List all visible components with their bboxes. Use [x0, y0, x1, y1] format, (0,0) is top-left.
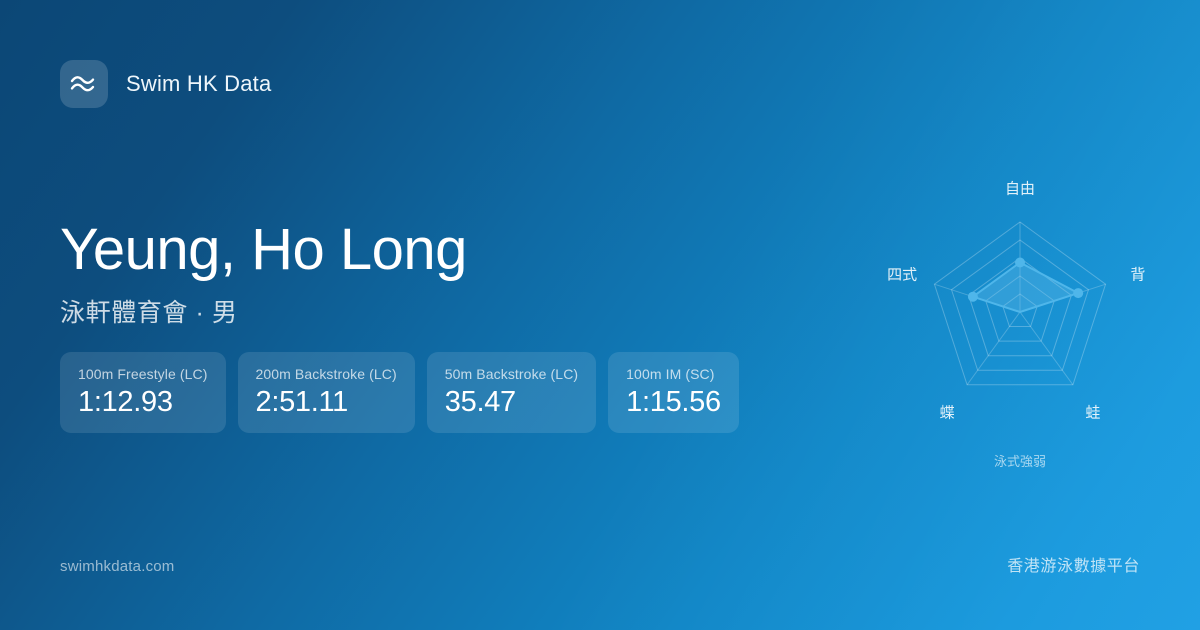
radar-point [1073, 288, 1083, 298]
stat-card[interactable]: 100m Freestyle (LC) 1:12.93 [60, 352, 226, 433]
brand-lockup: Swim HK Data [60, 60, 271, 108]
stroke-strength-radar-chart: 自由 背 蛙 蝶 四式 泳式強弱 [860, 160, 1180, 480]
radar-svg [860, 160, 1180, 480]
wave-icon [60, 60, 108, 108]
poster-canvas: Swim HK Data Yeung, Ho Long 泳軒體育會 · 男 10… [0, 0, 1200, 630]
stat-card[interactable]: 200m Backstroke (LC) 2:51.11 [238, 352, 415, 433]
stat-card-label: 100m Freestyle (LC) [78, 366, 208, 382]
radar-data-area [973, 263, 1078, 313]
radar-axis-label-back: 背 [1130, 263, 1145, 284]
radar-point [1015, 258, 1025, 268]
site-url: swimhkdata.com [60, 558, 175, 575]
radar-point [968, 292, 978, 302]
radar-axis-label-fly: 蝶 [940, 402, 955, 423]
stat-card-value: 2:51.11 [256, 387, 397, 417]
radar-chart-caption: 泳式強弱 [994, 451, 1046, 470]
hero-block: Yeung, Ho Long 泳軒體育會 · 男 [60, 218, 467, 329]
radar-axis-label-im: 四式 [887, 263, 917, 284]
radar-axis-label-breast: 蛙 [1085, 402, 1100, 423]
site-tagline: 香港游泳數據平台 [1007, 552, 1140, 576]
stat-card[interactable]: 50m Backstroke (LC) 35.47 [427, 352, 596, 433]
radar-axis-label-free: 自由 [1005, 178, 1035, 199]
stat-card-label: 100m IM (SC) [626, 366, 721, 382]
page-title: Yeung, Ho Long [60, 218, 467, 283]
stat-card-label: 50m Backstroke (LC) [445, 366, 578, 382]
brand-name: Swim HK Data [126, 71, 271, 97]
stat-card[interactable]: 100m IM (SC) 1:15.56 [608, 352, 739, 433]
stat-card-row: 100m Freestyle (LC) 1:12.93 200m Backstr… [60, 352, 739, 433]
stat-card-value: 1:12.93 [78, 387, 208, 417]
athlete-meta: 泳軒體育會 · 男 [60, 293, 467, 329]
stat-card-value: 1:15.56 [626, 387, 721, 417]
stat-card-value: 35.47 [445, 387, 578, 417]
stat-card-label: 200m Backstroke (LC) [256, 366, 397, 382]
